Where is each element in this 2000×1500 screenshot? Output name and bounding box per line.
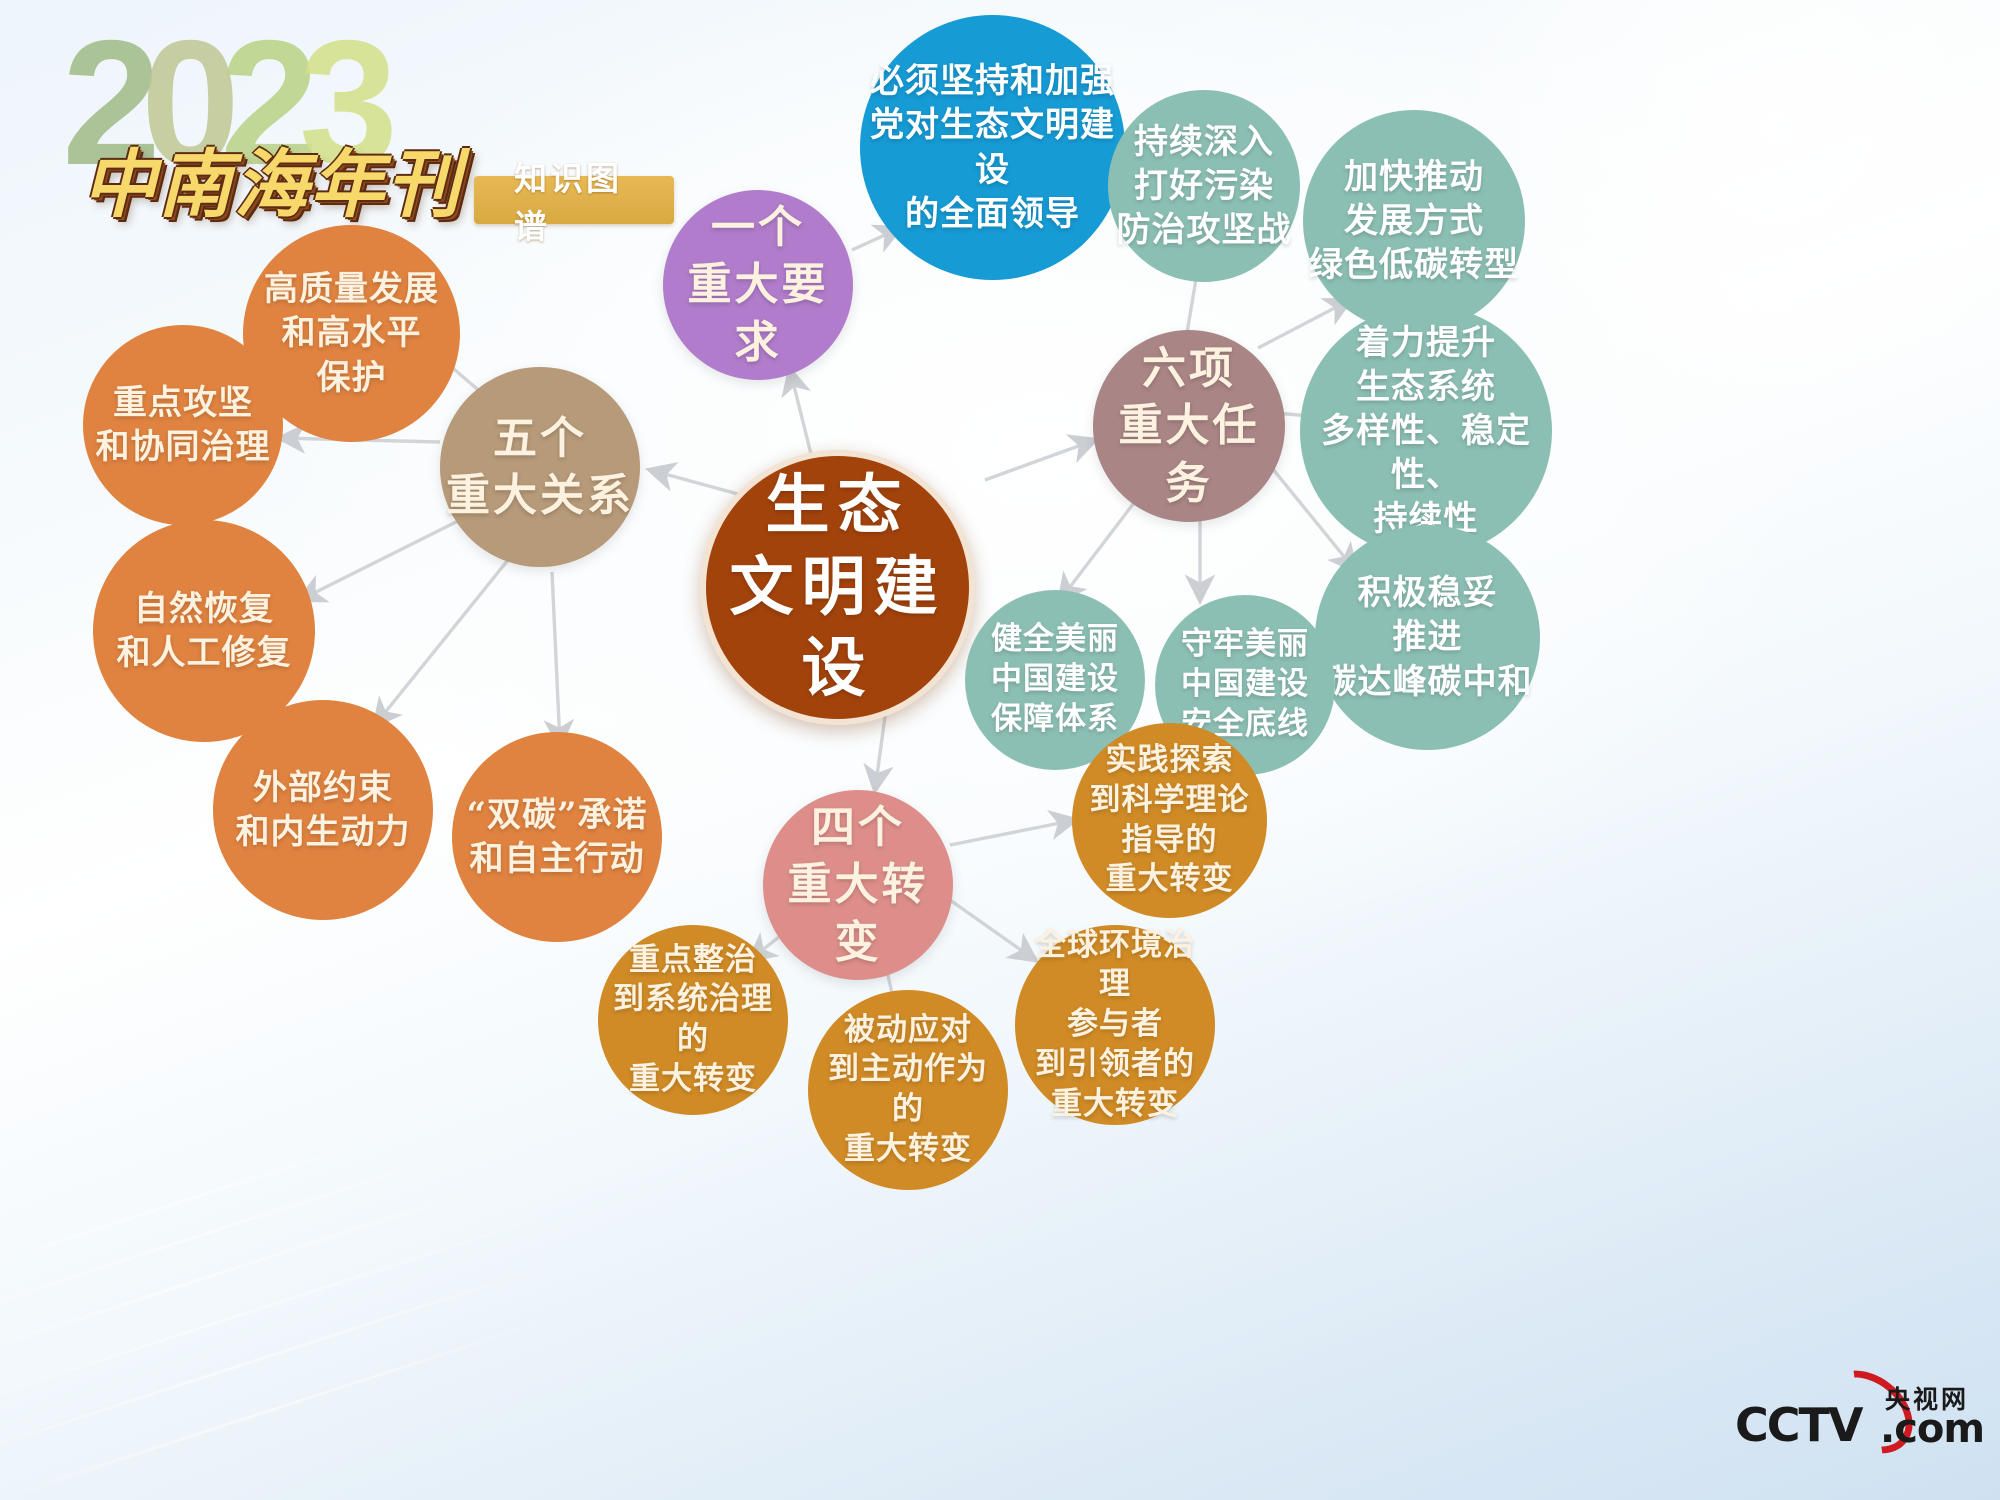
infographic-canvas: 2023 中南海年刊 知识图谱 [0, 0, 2000, 1500]
node-label: 积极稳妥 推进 碳达峰碳中和 [1315, 571, 1540, 704]
node-label: “双碳”承诺 和自主行动 [452, 793, 662, 881]
node-label: 必须坚持和加强 党对生态文明建设 的全面领导 [860, 59, 1125, 236]
node-leaf-carbon-peak-neutrality[interactable]: 积极稳妥 推进 碳达峰碳中和 [1315, 525, 1540, 750]
node-label: 被动应对 到主动作为的 重大转变 [808, 1011, 1008, 1170]
node-leaf-dual-carbon[interactable]: “双碳”承诺 和自主行动 [452, 732, 662, 942]
node-label: 自然恢复 和人工修复 [93, 587, 315, 675]
node-label: 生态 文明建设 [706, 465, 969, 711]
edge-four-to-practice [950, 820, 1075, 845]
node-label: 全球环境治理 参与者 到引领者的 重大转变 [1015, 926, 1215, 1124]
node-label: 一个 重大要求 [663, 199, 853, 371]
node-leaf-practice-to-theory[interactable]: 实践探索 到科学理论 指导的 重大转变 [1072, 723, 1267, 918]
edge-five-to-nature [300, 520, 460, 600]
node-label: 着力提升 生态系统 多样性、稳定性、 持续性 [1300, 321, 1552, 542]
edge-center-to-six [985, 440, 1095, 480]
node-leaf-green-low-carbon[interactable]: 加快推动 发展方式 绿色低碳转型 [1303, 110, 1525, 332]
edge-five-to-dualcarbon [552, 572, 560, 745]
node-hub-six-tasks[interactable]: 六项 重大任务 [1093, 330, 1285, 522]
node-label: 持续深入 打好污染 防治攻坚战 [1108, 120, 1300, 253]
edge-five-to-external [375, 560, 508, 725]
node-label: 健全美丽 中国建设 保障体系 [965, 620, 1145, 739]
node-label: 外部约束 和内生动力 [213, 766, 433, 854]
cctv-wordmark: CCTV [1735, 1398, 1862, 1452]
node-leaf-global-governance-leader[interactable]: 全球环境治理 参与者 到引领者的 重大转变 [1015, 925, 1215, 1125]
node-label: 实践探索 到科学理论 指导的 重大转变 [1072, 741, 1267, 900]
node-label: 六项 重大任务 [1093, 340, 1285, 512]
node-leaf-passive-to-proactive[interactable]: 被动应对 到主动作为的 重大转变 [808, 990, 1008, 1190]
node-center-ecological-civilization[interactable]: 生态 文明建设 [700, 450, 975, 725]
node-leaf-key-battles[interactable]: 重点攻坚 和协同治理 [83, 325, 283, 525]
node-label: 加快推动 发展方式 绿色低碳转型 [1303, 155, 1525, 288]
node-hub-four-shifts[interactable]: 四个 重大转变 [763, 790, 953, 980]
node-leaf-pollution-control[interactable]: 持续深入 打好污染 防治攻坚战 [1108, 90, 1300, 282]
node-leaf-ecosystem-diversity[interactable]: 着力提升 生态系统 多样性、稳定性、 持续性 [1300, 305, 1552, 557]
node-hub-five-relations[interactable]: 五个 重大关系 [440, 367, 640, 567]
node-leaf-party-leadership[interactable]: 必须坚持和加强 党对生态文明建设 的全面领导 [860, 15, 1125, 280]
cctv-logo[interactable]: CCTV 央视网 .com [1735, 1378, 1975, 1464]
node-label: 四个 重大转变 [763, 799, 953, 971]
node-label: 重点攻坚 和协同治理 [83, 381, 283, 469]
node-hub-one-requirement[interactable]: 一个 重大要求 [663, 190, 853, 380]
cctv-domain: .com [1880, 1406, 1984, 1452]
node-label: 重点整治 到系统治理的 重大转变 [598, 941, 788, 1100]
node-label: 五个 重大关系 [440, 410, 640, 524]
node-leaf-key-to-systemic[interactable]: 重点整治 到系统治理的 重大转变 [598, 925, 788, 1115]
node-leaf-external-constraints[interactable]: 外部约束 和内生动力 [213, 700, 433, 920]
